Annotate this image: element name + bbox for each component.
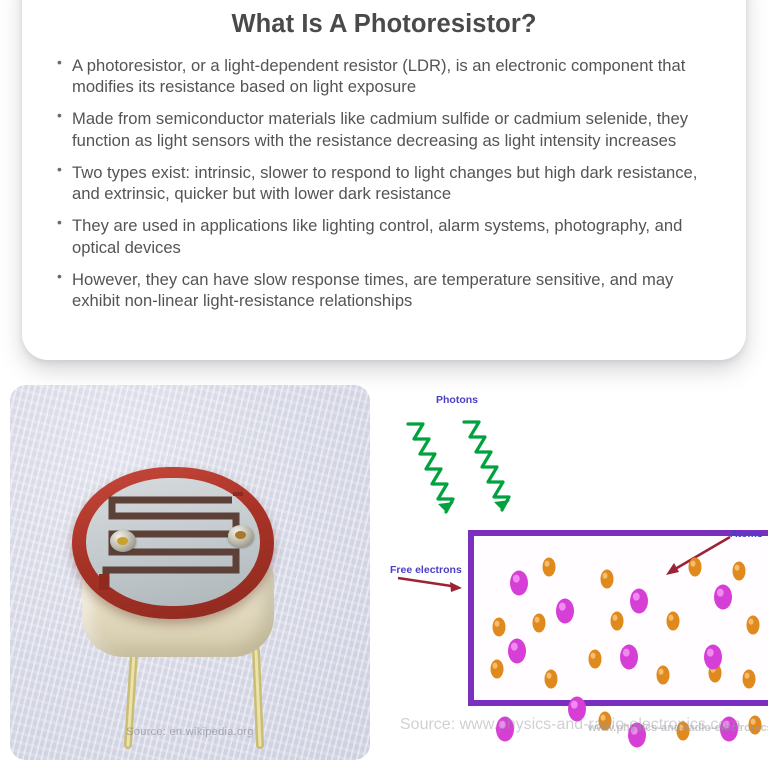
slide-canvas: What Is A Photoresistor? A photoresistor…	[0, 0, 768, 768]
atom-particle-highlight	[669, 615, 674, 621]
free-electron-particle-highlight	[513, 575, 520, 583]
atom-particle-highlight	[735, 565, 740, 571]
atom-particle	[543, 558, 556, 577]
atom-particle	[733, 562, 746, 581]
free-electron-particle	[630, 589, 648, 614]
atom-particle-highlight	[591, 653, 596, 659]
atom-particle	[589, 650, 602, 669]
atom-particle-highlight	[745, 673, 750, 679]
source-watermark: www.physics-and-radio-electronics.com	[588, 722, 768, 734]
list-item: However, they can have slow response tim…	[56, 269, 718, 311]
free-electrons-pointer-icon	[398, 578, 462, 592]
free-electron-particle	[510, 571, 528, 596]
atom-particle	[493, 618, 506, 637]
atom-particle-highlight	[545, 561, 550, 567]
free-electron-particle	[704, 645, 722, 670]
photoconduction-diagram: Photons Free electrons Atoms	[378, 382, 768, 768]
atom-particle-highlight	[547, 673, 552, 679]
free-electron-particle-highlight	[707, 649, 714, 657]
list-item: A photoresistor, or a light-dependent re…	[56, 55, 718, 97]
free-electron-particle	[508, 639, 526, 664]
atom-particle-highlight	[613, 615, 618, 621]
page-title: What Is A Photoresistor?	[46, 10, 722, 39]
atom-particle	[667, 612, 680, 631]
atom-particle-highlight	[493, 663, 498, 669]
atom-particle-highlight	[535, 617, 540, 623]
free-electron-particle-highlight	[633, 593, 640, 601]
atom-particle	[657, 666, 670, 685]
ldr-face	[72, 467, 274, 619]
atom-particle	[747, 616, 760, 635]
atom-particle	[491, 660, 504, 679]
free-electron-particle-highlight	[717, 589, 724, 597]
photoresistor-photo: Source: en.wikipedia.org	[10, 385, 370, 760]
atom-particle-highlight	[749, 619, 754, 625]
list-item: Two types exist: intrinsic, slower to re…	[56, 162, 718, 204]
solder-contact-left	[110, 530, 136, 552]
label-free-electrons: Free electrons	[390, 564, 462, 576]
atom-particle-highlight	[659, 669, 664, 675]
atom-particle	[743, 670, 756, 689]
list-item: Made from semiconductor materials like c…	[56, 108, 718, 150]
solder-contact-right	[228, 525, 254, 547]
label-photons: Photons	[436, 394, 478, 406]
photo-credit: Source: en.wikipedia.org	[10, 726, 370, 738]
atom-particle	[545, 670, 558, 689]
free-electron-particle-highlight	[559, 603, 566, 611]
bullet-list: A photoresistor, or a light-dependent re…	[46, 55, 722, 311]
free-electron-particle	[556, 599, 574, 624]
photon-arrowhead-icon	[438, 500, 510, 512]
free-electron-particle-highlight	[511, 643, 518, 651]
info-card: What Is A Photoresistor? A photoresistor…	[22, 0, 746, 360]
atom-particle	[611, 612, 624, 631]
ldr-sensor-surface	[86, 478, 260, 606]
atom-particle	[533, 614, 546, 633]
atom-particle	[601, 570, 614, 589]
free-electron-particle	[620, 645, 638, 670]
atom-particle-highlight	[691, 561, 696, 567]
free-electron-particle-highlight	[571, 701, 578, 709]
label-atoms: Atoms	[730, 528, 763, 540]
atom-particle-highlight	[603, 573, 608, 579]
list-item: They are used in applications like light…	[56, 215, 718, 257]
free-electron-particle	[714, 585, 732, 610]
atom-particle	[689, 558, 702, 577]
photon-wave-icon	[408, 422, 509, 512]
atom-particle-highlight	[495, 621, 500, 627]
free-electron-particle-highlight	[623, 649, 630, 657]
